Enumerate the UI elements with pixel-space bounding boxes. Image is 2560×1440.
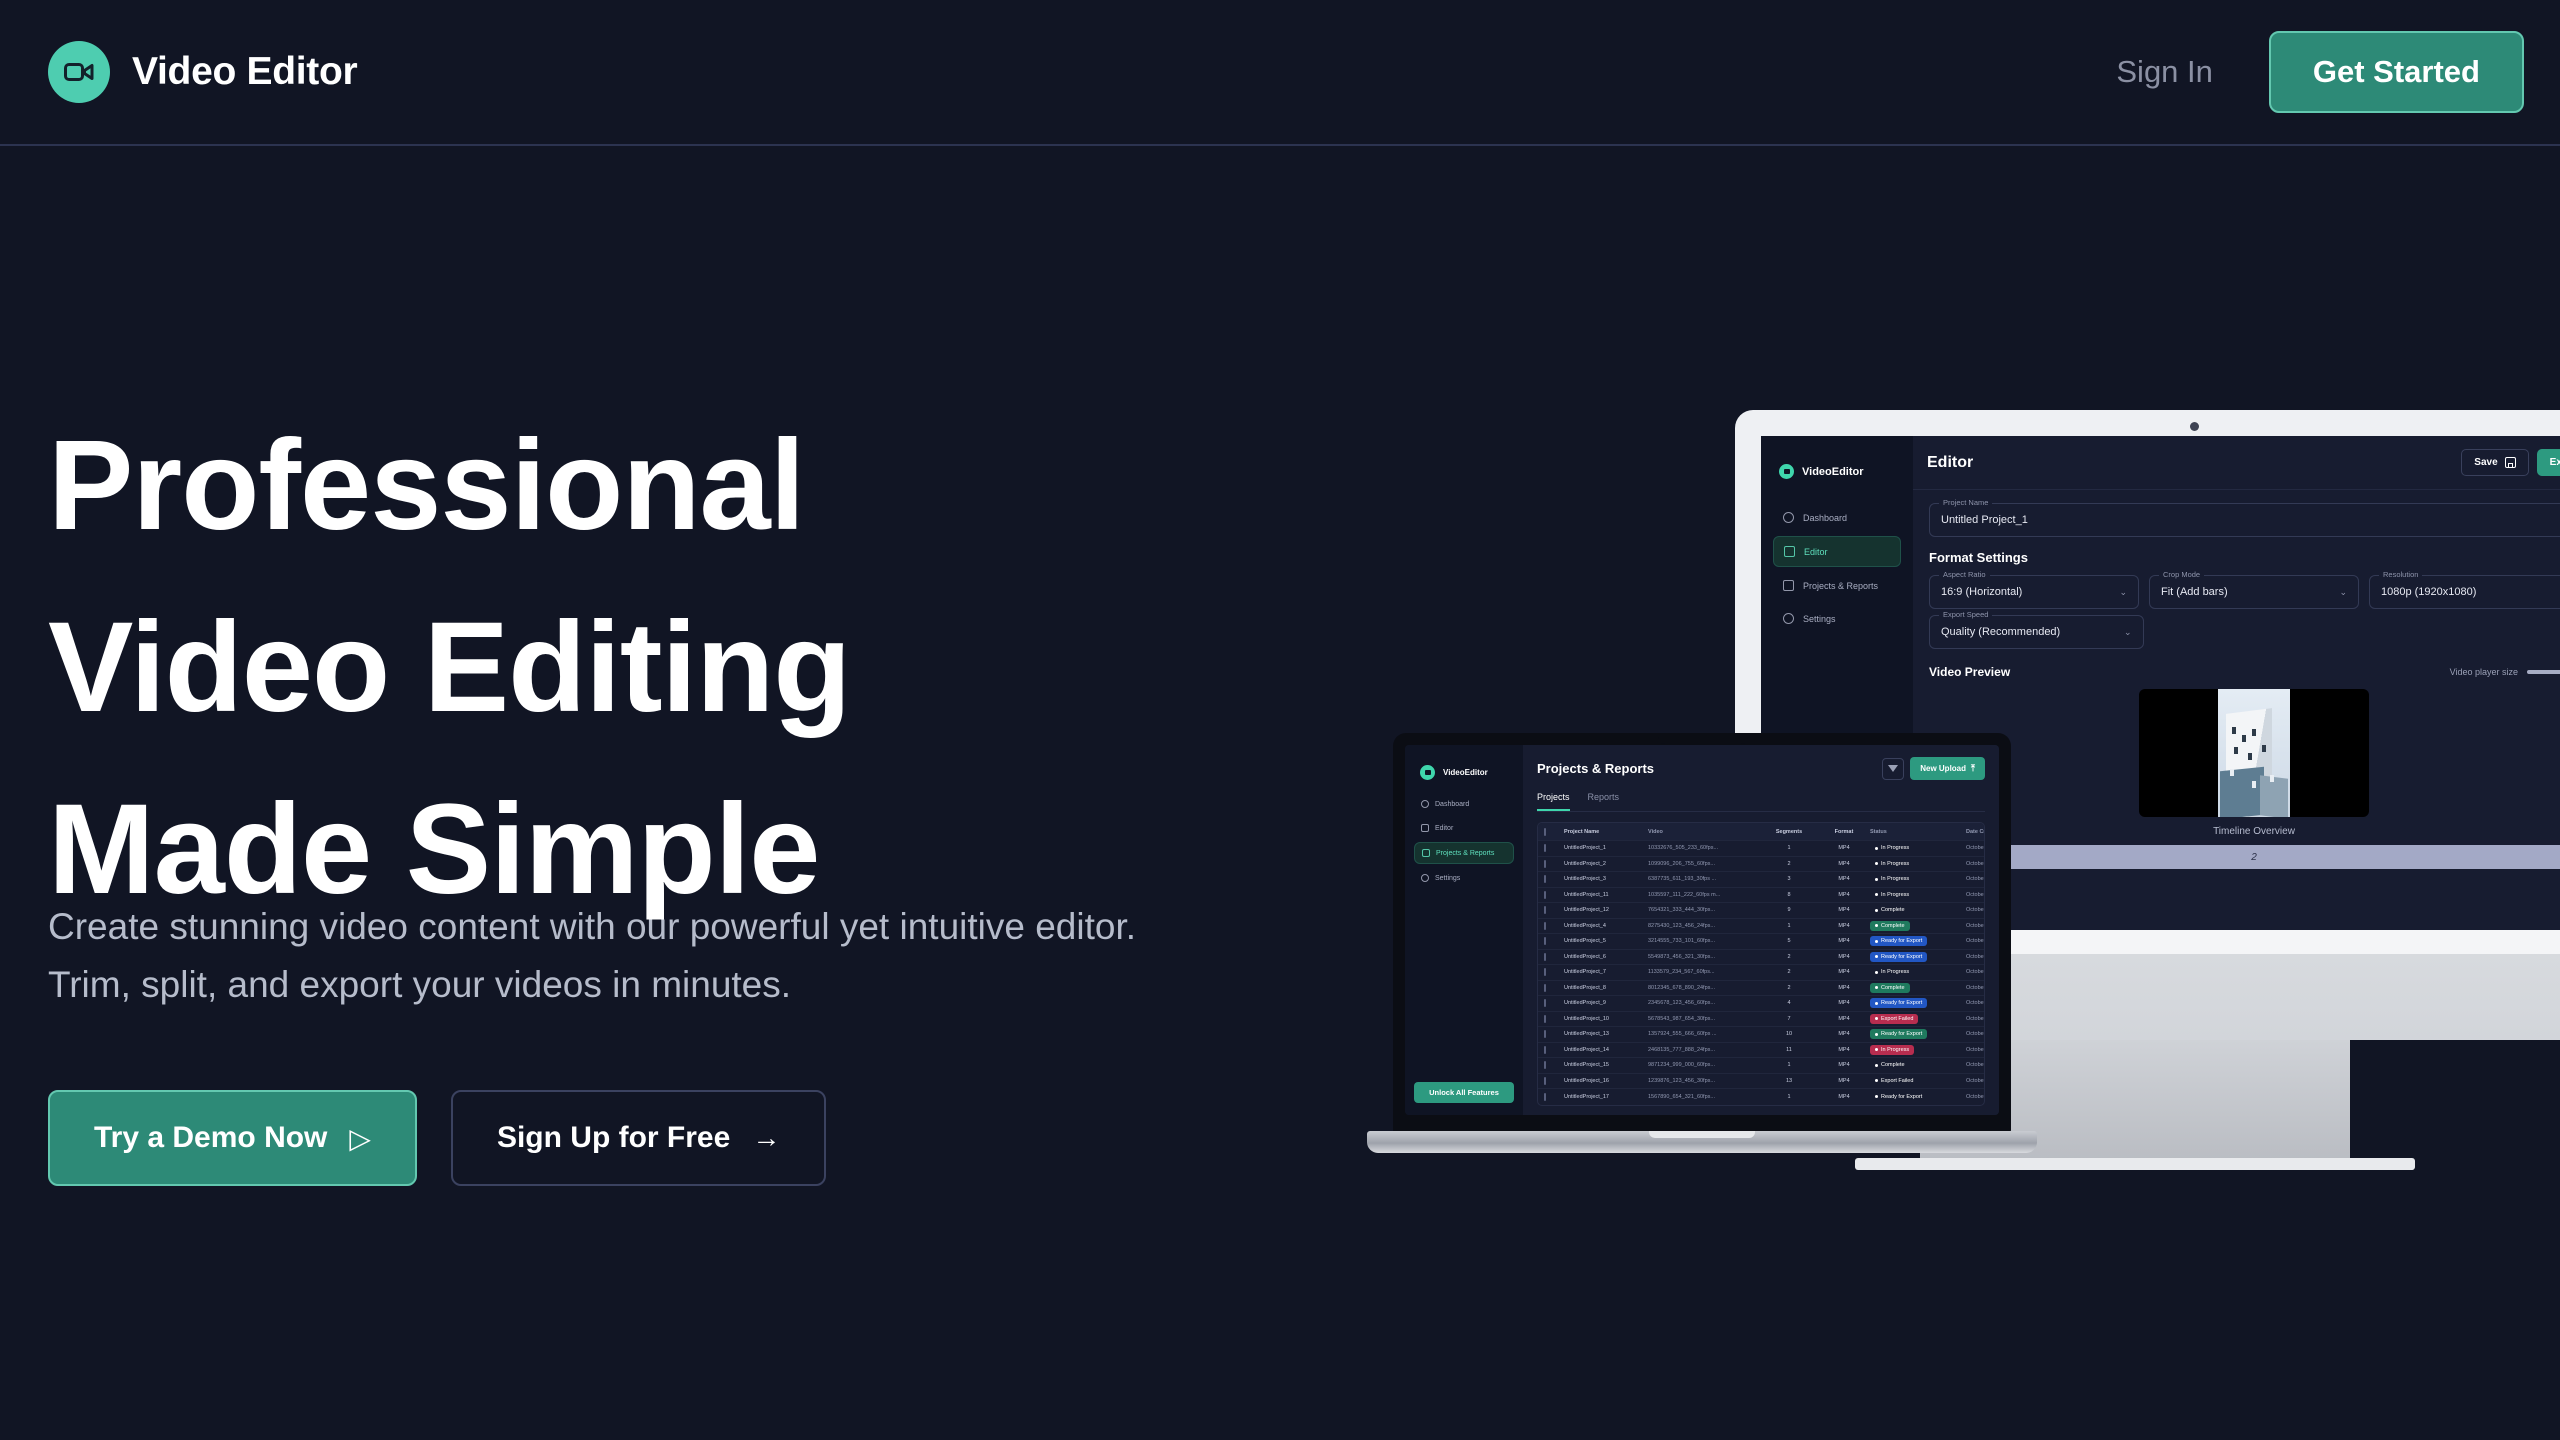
cell-status: In Progress xyxy=(1870,859,1966,869)
table-row[interactable]: UntitledProject_21099096_206_755_60fps..… xyxy=(1538,857,1984,873)
cell-format: MP4 xyxy=(1818,845,1870,851)
resolution-select[interactable]: Resolution 1080p (1920x1080) ⌄ xyxy=(2369,575,2560,609)
cell-status: Ready for Export xyxy=(1870,1029,1966,1039)
cell-date-created: October 26, 2025 xyxy=(1966,1062,1985,1068)
cell-date-created: October 16, 2025 xyxy=(1966,938,1985,944)
cell-date-created: October 22, 2025 xyxy=(1966,892,1985,898)
status-badge: Complete xyxy=(1870,983,1910,993)
cell-format: MP4 xyxy=(1818,1000,1870,1006)
crop-mode-select[interactable]: Crop Mode Fit (Add bars) ⌄ xyxy=(2149,575,2359,609)
arrow-right-icon: → xyxy=(752,1122,780,1154)
table-row[interactable]: UntitledProject_36387735_611_193_30fps .… xyxy=(1538,872,1984,888)
hero-title-line-2: Video Editing xyxy=(48,577,850,759)
sidebar-item-editor[interactable]: Editor xyxy=(1773,536,1901,567)
table-row[interactable]: UntitledProject_161239876_123_456_30fps.… xyxy=(1538,1074,1984,1090)
cell-project-name: UntitledProject_9 xyxy=(1564,1000,1648,1006)
table-row[interactable]: UntitledProject_48275430_123_456_24fps..… xyxy=(1538,919,1984,935)
app-logo-icon xyxy=(1779,464,1794,479)
cell-status: Ready for Export xyxy=(1870,952,1966,962)
cell-video: 1239876_123_456_30fps... xyxy=(1648,1078,1760,1084)
cell-date-created: October 23, 2025 xyxy=(1966,907,1985,913)
laptop-base-notch xyxy=(1649,1131,1755,1138)
cell-status: Ready for Export xyxy=(1870,1092,1966,1102)
cell-segments: 5 xyxy=(1760,938,1818,944)
try-demo-button[interactable]: Try a Demo Now ▷ xyxy=(48,1090,417,1186)
row-checkbox[interactable] xyxy=(1544,1000,1564,1006)
player-size-label: Video player size xyxy=(2450,667,2518,677)
cell-video: 1099096_206_755_60fps... xyxy=(1648,861,1760,867)
crop-mode-value: Fit (Add bars) xyxy=(2161,586,2228,598)
table-row[interactable]: UntitledProject_159871234_999_000_60fps.… xyxy=(1538,1058,1984,1074)
projects-tabs: Projects Reports xyxy=(1537,792,1985,812)
cell-status: Export Failed xyxy=(1870,1076,1966,1086)
player-size-control[interactable]: Video player size xyxy=(2450,667,2560,677)
cell-video: 1133579_234_567_60fps... xyxy=(1648,969,1760,975)
row-checkbox[interactable] xyxy=(1544,954,1564,960)
cell-segments: 9 xyxy=(1760,907,1818,913)
hero-title-line-1: Professional xyxy=(48,395,850,577)
row-checkbox[interactable] xyxy=(1544,1094,1564,1100)
cell-status: Export Failed xyxy=(1870,1014,1966,1024)
funnel-icon xyxy=(1888,765,1898,772)
cell-segments: 1 xyxy=(1760,923,1818,929)
app-brand-name: VideoEditor xyxy=(1443,768,1488,777)
cell-project-name: UntitledProject_4 xyxy=(1564,923,1648,929)
editor-topbar-actions: Save Exp xyxy=(2461,449,2560,476)
status-badge: In Progress xyxy=(1870,843,1914,853)
export-label: Exp xyxy=(2550,457,2560,468)
cell-date-created: October 25, 2025 xyxy=(1966,1047,1985,1053)
cell-video: 10332676_505_233_60fps... xyxy=(1648,845,1760,851)
status-badge: In Progress xyxy=(1870,1045,1914,1055)
hero-subtitle: Create stunning video content with our p… xyxy=(48,898,1138,1015)
projects-main: Projects & Reports New Upload ⤒ Projects… xyxy=(1523,745,1999,1115)
video-preview-bar: Video Preview Video player size xyxy=(1913,655,2560,679)
row-checkbox[interactable] xyxy=(1544,845,1564,851)
gauge-icon xyxy=(1421,800,1429,808)
cell-video: 2345678_123_456_60fps... xyxy=(1648,1000,1760,1006)
floppy-disk-icon xyxy=(2505,457,2516,468)
status-badge: Complete xyxy=(1870,1060,1910,1070)
sidebar-label: Projects & Reports xyxy=(1803,581,1878,591)
aspect-ratio-select[interactable]: Aspect Ratio 16:9 (Horizontal) ⌄ xyxy=(1929,575,2139,609)
cell-segments: 2 xyxy=(1760,985,1818,991)
row-checkbox[interactable] xyxy=(1544,876,1564,882)
cell-date-created: October 18, 2025 xyxy=(1966,969,1985,975)
sidebar-label: Settings xyxy=(1435,875,1460,882)
project-name-value: Untitled Project_1 xyxy=(1941,514,2028,526)
column-project-name[interactable]: Project Name xyxy=(1564,829,1648,835)
row-checkbox[interactable] xyxy=(1544,907,1564,913)
cell-date-created: October 21, 2025 xyxy=(1966,1016,1985,1022)
status-badge: In Progress xyxy=(1870,890,1914,900)
cell-video: 2468135_777_888_24fps... xyxy=(1648,1047,1760,1053)
cell-status: Complete xyxy=(1870,1060,1966,1070)
sidebar-item-projects-reports[interactable]: Projects & Reports xyxy=(1773,571,1901,600)
cell-segments: 11 xyxy=(1760,1047,1818,1053)
projects-sidebar: VideoEditor Dashboard Editor Projects & … xyxy=(1405,745,1523,1115)
table-row[interactable]: UntitledProject_88012345_678_890_24fps..… xyxy=(1538,981,1984,997)
project-name-label: Project Name xyxy=(1939,498,1992,507)
cell-format: MP4 xyxy=(1818,923,1870,929)
cell-segments: 1 xyxy=(1760,1094,1818,1100)
cell-status: In Progress xyxy=(1870,843,1966,853)
cell-segments: 13 xyxy=(1760,1078,1818,1084)
table-row[interactable]: UntitledProject_53214555_733_101_60fps..… xyxy=(1538,934,1984,950)
row-checkbox[interactable] xyxy=(1544,1078,1564,1084)
cell-format: MP4 xyxy=(1818,1047,1870,1053)
app-brand-name: VideoEditor xyxy=(1802,466,1864,478)
video-camera-icon xyxy=(48,41,110,103)
laptop-lid: VideoEditor Dashboard Editor Projects & … xyxy=(1393,733,2011,1133)
cell-project-name: UntitledProject_8 xyxy=(1564,985,1648,991)
chevron-down-icon: ⌄ xyxy=(2339,587,2347,598)
gear-icon xyxy=(1421,874,1429,882)
table-row[interactable]: UntitledProject_92345678_123_456_60fps..… xyxy=(1538,996,1984,1012)
cell-project-name: UntitledProject_1 xyxy=(1564,845,1648,851)
cell-segments: 1 xyxy=(1760,1062,1818,1068)
projects-table: Project Name Video Segments Format Statu… xyxy=(1537,822,1985,1106)
video-player[interactable] xyxy=(2139,689,2369,817)
format-row-1: Aspect Ratio 16:9 (Horizontal) ⌄ Crop Mo… xyxy=(1929,575,2560,615)
status-badge: In Progress xyxy=(1870,859,1914,869)
cell-video: 7654321_333_444_30fps... xyxy=(1648,907,1760,913)
sign-in-link[interactable]: Sign In xyxy=(2116,54,2213,90)
cell-format: MP4 xyxy=(1818,1031,1870,1037)
cell-segments: 1 xyxy=(1760,845,1818,851)
export-speed-label: Export Speed xyxy=(1939,610,1992,619)
brand-logo[interactable]: Video Editor xyxy=(48,41,357,103)
status-badge: Export Failed xyxy=(1870,1076,1918,1086)
sidebar-item-projects-reports[interactable]: Projects & Reports xyxy=(1414,842,1514,864)
tab-reports[interactable]: Reports xyxy=(1588,792,1620,811)
crop-mode-label: Crop Mode xyxy=(2159,570,2204,579)
column-video[interactable]: Video xyxy=(1648,829,1760,835)
cell-status: In Progress xyxy=(1870,874,1966,884)
resolution-label: Resolution xyxy=(2379,570,2422,579)
timeline-overview-label: Timeline Overview xyxy=(2213,826,2295,837)
status-badge: Export Failed xyxy=(1870,1014,1918,1024)
row-checkbox[interactable] xyxy=(1544,861,1564,867)
cell-date-created: October 20, 2025 xyxy=(1966,1000,1985,1006)
editor-app-brand: VideoEditor xyxy=(1779,464,1901,479)
cell-date-created: October 28, 2025 xyxy=(1966,1094,1985,1100)
cell-status: Complete xyxy=(1870,905,1966,915)
resolution-value: 1080p (1920x1080) xyxy=(2381,586,2476,598)
upload-icon: ⤒ xyxy=(1971,763,1975,774)
unlock-all-features-button[interactable]: Unlock All Features xyxy=(1414,1082,1514,1103)
folder-icon xyxy=(1422,849,1430,857)
table-row[interactable]: UntitledProject_111035597_111_222_60fps … xyxy=(1538,888,1984,904)
cell-segments: 7 xyxy=(1760,1016,1818,1022)
laptop-screen: VideoEditor Dashboard Editor Projects & … xyxy=(1405,745,1999,1115)
gauge-icon xyxy=(1783,512,1794,523)
gear-icon xyxy=(1783,613,1794,624)
cell-video: 1567890_654_321_60fps... xyxy=(1648,1094,1760,1100)
cell-segments: 2 xyxy=(1760,969,1818,975)
row-checkbox[interactable] xyxy=(1544,1047,1564,1053)
chevron-down-icon: ⌄ xyxy=(2119,587,2127,598)
tab-projects[interactable]: Projects xyxy=(1537,792,1570,811)
cell-project-name: UntitledProject_5 xyxy=(1564,938,1648,944)
laptop-mockup: VideoEditor Dashboard Editor Projects & … xyxy=(1367,733,2037,1183)
aspect-ratio-label: Aspect Ratio xyxy=(1939,570,1990,579)
cell-status: Complete xyxy=(1870,921,1966,931)
site-header: Video Editor Sign In Get Started xyxy=(0,0,2560,146)
table-row[interactable]: UntitledProject_110332676_505_233_60fps.… xyxy=(1538,841,1984,857)
cell-project-name: UntitledProject_15 xyxy=(1564,1062,1648,1068)
table-row[interactable]: UntitledProject_171567890_654_321_60fps.… xyxy=(1538,1089,1984,1105)
status-badge: Complete xyxy=(1870,905,1910,915)
row-checkbox[interactable] xyxy=(1544,892,1564,898)
cell-project-name: UntitledProject_7 xyxy=(1564,969,1648,975)
cell-segments: 4 xyxy=(1760,1000,1818,1006)
cell-segments: 10 xyxy=(1760,1031,1818,1037)
cell-format: MP4 xyxy=(1818,954,1870,960)
brand-name: Video Editor xyxy=(132,50,357,94)
cell-project-name: UntitledProject_17 xyxy=(1564,1094,1648,1100)
cell-project-name: UntitledProject_6 xyxy=(1564,954,1648,960)
play-icon: ▷ xyxy=(349,1122,371,1155)
row-checkbox[interactable] xyxy=(1544,1016,1564,1022)
editor-page-title: Editor xyxy=(1927,454,1973,472)
sidebar-item-editor[interactable]: Editor xyxy=(1414,818,1514,838)
sidebar-item-settings[interactable]: Settings xyxy=(1414,868,1514,888)
cell-status: In Progress xyxy=(1870,890,1966,900)
cell-date-created: October 13, 2025 xyxy=(1966,861,1985,867)
cell-segments: 2 xyxy=(1760,954,1818,960)
sign-up-free-button[interactable]: Sign Up for Free → xyxy=(451,1090,826,1186)
status-badge: In Progress xyxy=(1870,967,1914,977)
cell-date-created: October 19, 2025 xyxy=(1966,985,1985,991)
status-badge: Ready for Export xyxy=(1870,936,1927,946)
row-checkbox[interactable] xyxy=(1544,969,1564,975)
cell-project-name: UntitledProject_10 xyxy=(1564,1016,1648,1022)
cell-video: 3214555_733_101_60fps... xyxy=(1648,938,1760,944)
try-demo-label: Try a Demo Now xyxy=(94,1121,327,1155)
cell-status: Ready for Export xyxy=(1870,998,1966,1008)
row-checkbox[interactable] xyxy=(1544,923,1564,929)
video-icon xyxy=(1421,824,1429,832)
sidebar-label: Settings xyxy=(1803,614,1836,624)
format-settings-heading: Format Settings xyxy=(1929,550,2560,565)
cell-video: 6387735_611_193_30fps ... xyxy=(1648,876,1760,882)
cell-date-created: October 27, 2025 xyxy=(1966,1078,1985,1084)
new-upload-label: New Upload xyxy=(1920,764,1966,773)
table-row[interactable]: UntitledProject_131357924_555_666_60fps … xyxy=(1538,1027,1984,1043)
new-upload-button[interactable]: New Upload ⤒ xyxy=(1910,757,1985,780)
sidebar-label: Editor xyxy=(1435,825,1453,832)
player-size-slider[interactable] xyxy=(2527,670,2560,674)
select-all-checkbox[interactable] xyxy=(1544,829,1564,835)
save-button[interactable]: Save xyxy=(2461,449,2528,476)
export-speed-value: Quality (Recommended) xyxy=(1941,626,2060,638)
sidebar-label: Dashboard xyxy=(1435,801,1469,808)
sidebar-label: Dashboard xyxy=(1803,513,1847,523)
video-icon xyxy=(1784,546,1795,557)
cell-video: 9871234_999_000_60fps... xyxy=(1648,1062,1760,1068)
status-badge: In Progress xyxy=(1870,874,1914,884)
cell-project-name: UntitledProject_16 xyxy=(1564,1078,1648,1084)
row-checkbox[interactable] xyxy=(1544,985,1564,991)
cell-status: Ready for Export xyxy=(1870,936,1966,946)
page-title: Professional Video Editing Made Simple xyxy=(48,395,850,940)
video-poster-image xyxy=(2218,689,2290,817)
row-checkbox[interactable] xyxy=(1544,938,1564,944)
column-segments[interactable]: Segments xyxy=(1760,829,1818,835)
cell-format: MP4 xyxy=(1818,907,1870,913)
cell-format: MP4 xyxy=(1818,1062,1870,1068)
folder-icon xyxy=(1783,580,1794,591)
cell-video: 5678543_987_654_30fps... xyxy=(1648,1016,1760,1022)
cell-project-name: UntitledProject_14 xyxy=(1564,1047,1648,1053)
cell-video: 8275430_123_456_24fps... xyxy=(1648,923,1760,929)
row-checkbox[interactable] xyxy=(1544,1062,1564,1068)
filter-button[interactable] xyxy=(1882,758,1904,780)
cell-segments: 3 xyxy=(1760,876,1818,882)
status-badge: Ready for Export xyxy=(1870,1092,1927,1102)
cell-project-name: UntitledProject_13 xyxy=(1564,1031,1648,1037)
column-date-created[interactable]: Date Created xyxy=(1966,829,1985,835)
table-header-row: Project Name Video Segments Format Statu… xyxy=(1538,823,1984,841)
status-badge: Ready for Export xyxy=(1870,998,1927,1008)
cell-segments: 2 xyxy=(1760,861,1818,867)
table-row[interactable]: UntitledProject_105678543_987_654_30fps.… xyxy=(1538,1012,1984,1028)
cta-row: Try a Demo Now ▷ Sign Up for Free → xyxy=(48,1090,826,1186)
table-row[interactable]: UntitledProject_142468135_777_888_24fps.… xyxy=(1538,1043,1984,1059)
video-preview-heading: Video Preview xyxy=(1929,665,2010,679)
cell-segments: 8 xyxy=(1760,892,1818,898)
cell-video: 1035597_111_222_60fps m... xyxy=(1648,892,1760,898)
cell-video: 8012345_678_890_24fps... xyxy=(1648,985,1760,991)
cell-project-name: UntitledProject_3 xyxy=(1564,876,1648,882)
cell-status: Complete xyxy=(1870,983,1966,993)
cell-project-name: UntitledProject_12 xyxy=(1564,907,1648,913)
status-badge: Ready for Export xyxy=(1870,952,1927,962)
cell-format: MP4 xyxy=(1818,876,1870,882)
table-row[interactable]: UntitledProject_65549873_456_321_30fps..… xyxy=(1538,950,1984,966)
cell-project-name: UntitledProject_11 xyxy=(1564,892,1648,898)
editor-topbar: Editor Save Exp xyxy=(1913,436,2560,490)
table-row[interactable]: UntitledProject_127654321_333_444_30fps.… xyxy=(1538,903,1984,919)
column-status[interactable]: Status xyxy=(1870,829,1966,835)
laptop-notch xyxy=(1658,733,1748,744)
cell-date-created: October 13, 2025 xyxy=(1966,845,1985,851)
projects-header: Projects & Reports New Upload ⤒ xyxy=(1537,757,1985,780)
editor-form: Project Name Untitled Project_1 Format S… xyxy=(1913,490,2560,655)
aspect-ratio-value: 16:9 (Horizontal) xyxy=(1941,586,2022,598)
cell-video: 5549873_456_321_30fps... xyxy=(1648,954,1760,960)
export-speed-select[interactable]: Export Speed Quality (Recommended) ⌄ xyxy=(1929,615,2144,649)
cell-format: MP4 xyxy=(1818,861,1870,867)
get-started-button[interactable]: Get Started xyxy=(2269,31,2524,113)
sidebar-item-settings[interactable]: Settings xyxy=(1773,604,1901,633)
cell-format: MP4 xyxy=(1818,1016,1870,1022)
format-row-2: Export Speed Quality (Recommended) ⌄ xyxy=(1929,615,2144,655)
sign-up-label: Sign Up for Free xyxy=(497,1121,730,1155)
sidebar-label: Projects & Reports xyxy=(1436,850,1494,857)
save-label: Save xyxy=(2474,457,2497,468)
cell-format: MP4 xyxy=(1818,1078,1870,1084)
project-name-field[interactable]: Project Name Untitled Project_1 xyxy=(1929,503,2560,537)
cell-date-created: October 17, 2025 xyxy=(1966,954,1985,960)
projects-page-title: Projects & Reports xyxy=(1537,761,1654,776)
column-format[interactable]: Format xyxy=(1818,829,1870,835)
cell-status: In Progress xyxy=(1870,1045,1966,1055)
projects-header-actions: New Upload ⤒ xyxy=(1882,757,1985,780)
cell-video: 1357924_555_666_60fps ... xyxy=(1648,1031,1760,1037)
header-actions: Sign In Get Started xyxy=(2116,31,2524,113)
cell-status: In Progress xyxy=(1870,967,1966,977)
sidebar-item-dashboard[interactable]: Dashboard xyxy=(1773,503,1901,532)
cell-format: MP4 xyxy=(1818,892,1870,898)
sidebar-item-dashboard[interactable]: Dashboard xyxy=(1414,794,1514,814)
cell-date-created: October 14, 2025 xyxy=(1966,876,1985,882)
projects-app-brand: VideoEditor xyxy=(1420,765,1514,780)
status-badge: Ready for Export xyxy=(1870,1029,1927,1039)
row-checkbox[interactable] xyxy=(1544,1031,1564,1037)
chevron-down-icon: ⌄ xyxy=(2124,627,2132,638)
sidebar-label: Editor xyxy=(1804,547,1828,557)
table-row[interactable]: UntitledProject_71133579_234_567_60fps..… xyxy=(1538,965,1984,981)
export-button[interactable]: Exp xyxy=(2537,449,2560,476)
cell-format: MP4 xyxy=(1818,985,1870,991)
cell-date-created: October 15, 2025 xyxy=(1966,923,1985,929)
app-logo-icon xyxy=(1420,765,1435,780)
cell-format: MP4 xyxy=(1818,1094,1870,1100)
cell-project-name: UntitledProject_2 xyxy=(1564,861,1648,867)
webcam-dot-icon xyxy=(2190,422,2199,431)
status-badge: Complete xyxy=(1870,921,1910,931)
cell-format: MP4 xyxy=(1818,938,1870,944)
cell-date-created: October 24, 2025 xyxy=(1966,1031,1985,1037)
cell-format: MP4 xyxy=(1818,969,1870,975)
